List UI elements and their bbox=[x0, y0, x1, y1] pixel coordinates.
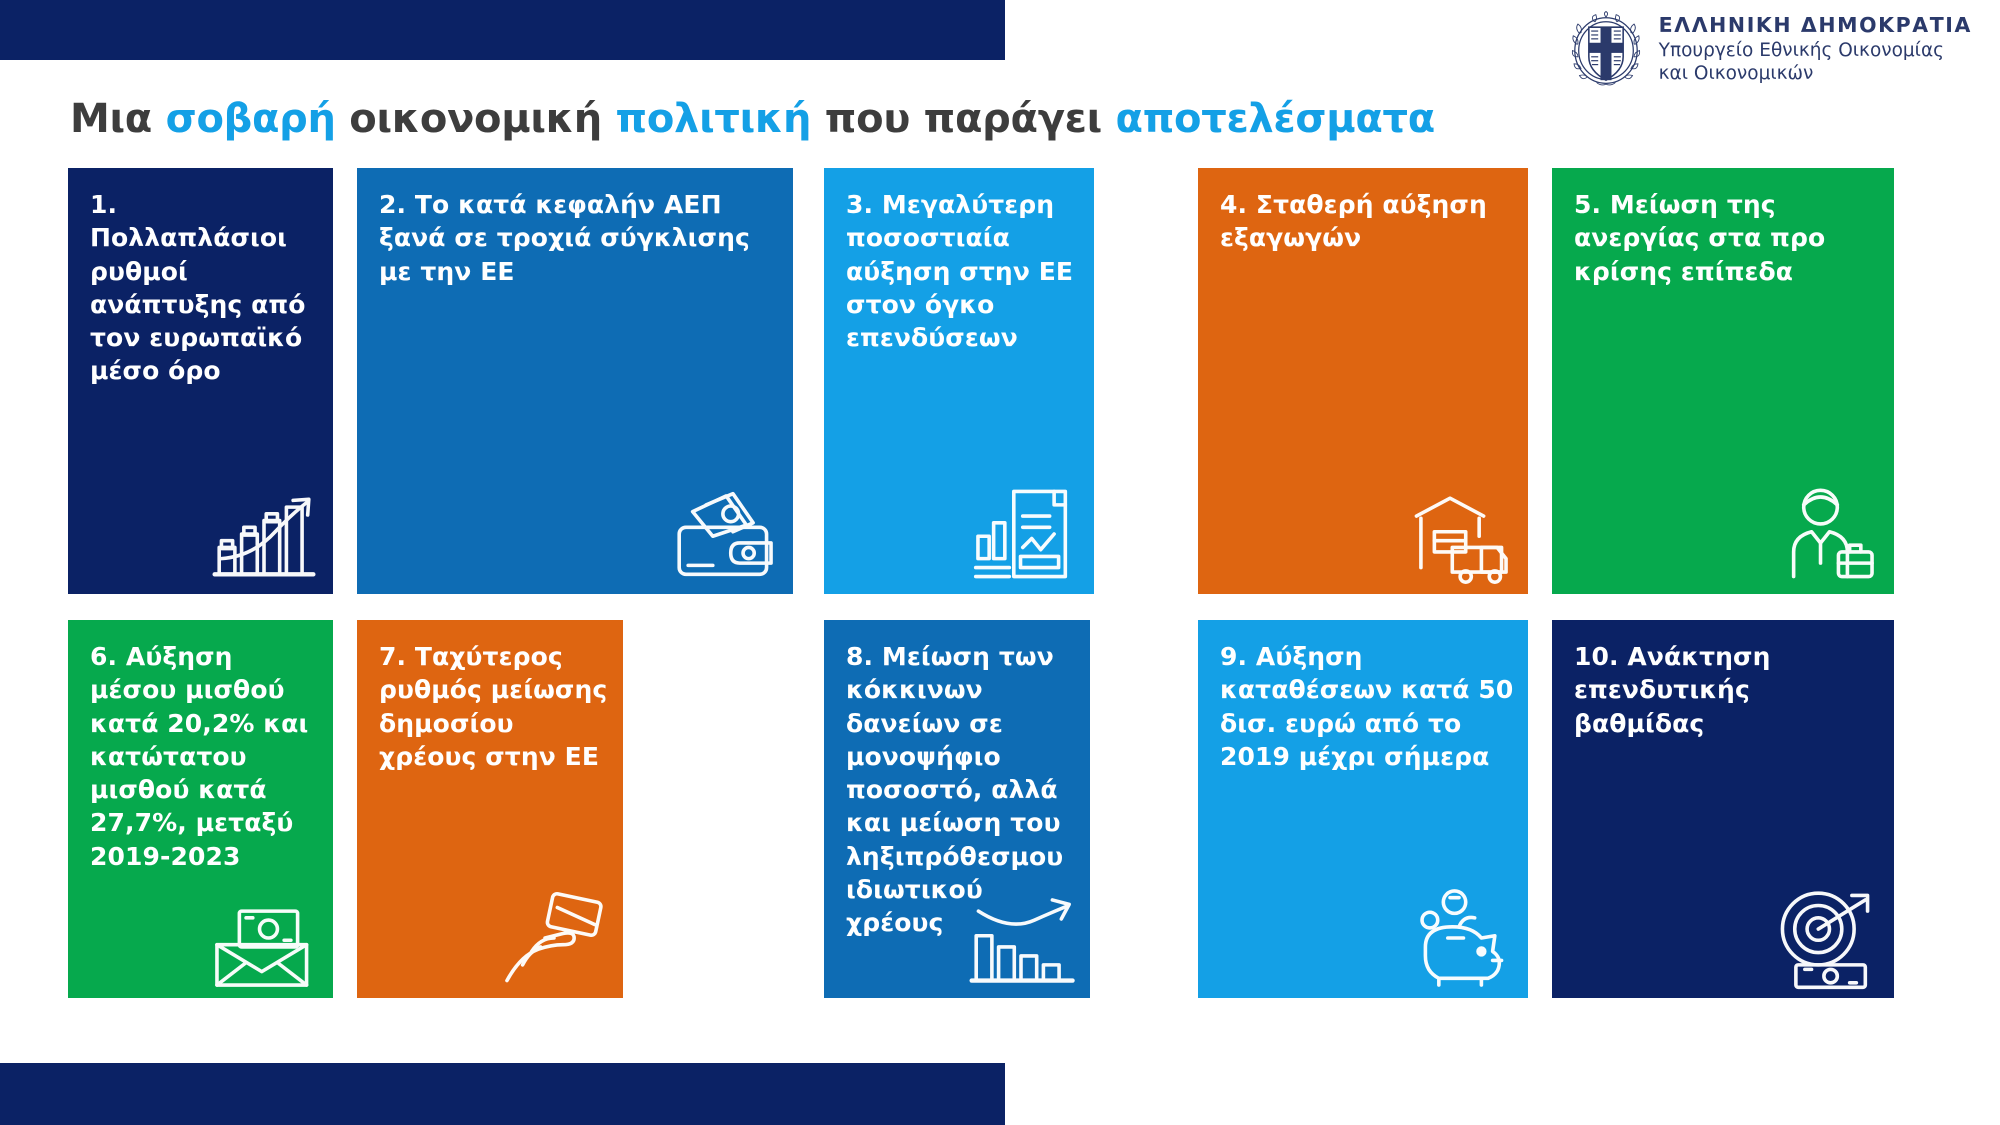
decorative-bottom-bar bbox=[0, 1063, 1005, 1125]
target-arrow-money-icon bbox=[1766, 882, 1884, 994]
logo-subtitle-line-1: Υπουργείο Εθνικής Οικονομίας bbox=[1659, 39, 1972, 62]
card-label: 10. Ανάκτηση επενδυτικής βαθμίδας bbox=[1574, 640, 1880, 740]
achievement-card-9[interactable]: 9. Αύξηση καταθέσεων κατά 50 δισ. ευρώ α… bbox=[1198, 620, 1528, 998]
achievement-card-2[interactable]: 2. Το κατά κεφαλήν ΑΕΠ ξανά σε τροχιά σύ… bbox=[357, 168, 793, 594]
card-label: 3. Μεγαλύτερη ποσοστιαία αύξηση στην ΕΕ … bbox=[846, 188, 1080, 354]
card-label: 9. Αύξηση καταθέσεων κατά 50 δισ. ευρώ α… bbox=[1220, 640, 1514, 773]
title-segment-1: σοβαρή bbox=[166, 96, 336, 142]
logo-subtitle-line-2: και Οικονομικών bbox=[1659, 62, 1972, 85]
worker-briefcase-icon bbox=[1766, 478, 1884, 590]
achievement-card-7[interactable]: 7. Ταχύτερος ρυθμός μείωσης δημοσίου χρέ… bbox=[357, 620, 623, 998]
hand-card-icon bbox=[495, 882, 613, 994]
title-segment-3: πολιτική bbox=[616, 96, 812, 142]
ministry-logo: ΕΛΛΗΝΙΚΗ ΔΗΜΟΚΡΑΤΙΑ Υπουργείο Εθνικής Οι… bbox=[1567, 10, 1972, 88]
achievement-card-6[interactable]: 6. Αύξηση μέσου μισθού κατά 20,2% και κα… bbox=[68, 620, 333, 998]
achievement-card-3[interactable]: 3. Μεγαλύτερη ποσοστιαία αύξηση στην ΕΕ … bbox=[824, 168, 1094, 594]
card-label: 6. Αύξηση μέσου μισθού κατά 20,2% και κα… bbox=[90, 640, 319, 873]
card-label: 5. Μείωση της ανεργίας στα προ κρίσης επ… bbox=[1574, 188, 1880, 288]
slide-canvas: Μια σοβαρή οικονομική πολιτική που παράγ… bbox=[0, 0, 2000, 1125]
envelope-money-icon bbox=[205, 882, 323, 994]
wallet-cash-icon bbox=[665, 478, 783, 590]
title-segment-2: οικονομική bbox=[336, 96, 616, 142]
title-segment-4: που παράγει bbox=[811, 96, 1115, 142]
piggy-bank-icon bbox=[1400, 882, 1518, 994]
logo-title-line: ΕΛΛΗΝΙΚΗ ΔΗΜΟΚΡΑΤΙΑ bbox=[1659, 13, 1972, 39]
card-label: 2. Το κατά κεφαλήν ΑΕΠ ξανά σε τροχιά σύ… bbox=[379, 188, 779, 288]
achievement-card-1[interactable]: 1. Πολλαπλάσιοι ρυθμοί ανάπτυξης από τον… bbox=[68, 168, 333, 594]
growth-chart-icon bbox=[205, 478, 323, 590]
achievements-grid: 1. Πολλαπλάσιοι ρυθμοί ανάπτυξης από τον… bbox=[0, 0, 2000, 1125]
greek-coat-of-arms-icon bbox=[1567, 10, 1645, 88]
documents-chart-icon bbox=[966, 478, 1084, 590]
card-label: 4. Σταθερή αύξηση εξαγωγών bbox=[1220, 188, 1514, 255]
achievement-card-4[interactable]: 4. Σταθερή αύξηση εξαγωγών bbox=[1198, 168, 1528, 594]
declining-bars-icon bbox=[962, 882, 1080, 994]
page-title: Μια σοβαρή οικονομική πολιτική που παράγ… bbox=[70, 96, 1435, 142]
title-segment-5: αποτελέσματα bbox=[1116, 96, 1435, 142]
decorative-top-bar bbox=[0, 0, 1005, 60]
achievement-card-8[interactable]: 8. Μείωση των κόκκινων δανείων σε μονοψή… bbox=[824, 620, 1090, 998]
warehouse-truck-icon bbox=[1400, 478, 1518, 590]
achievement-card-10[interactable]: 10. Ανάκτηση επενδυτικής βαθμίδας bbox=[1552, 620, 1894, 998]
card-label: 7. Ταχύτερος ρυθμός μείωσης δημοσίου χρέ… bbox=[379, 640, 609, 773]
card-label: 1. Πολλαπλάσιοι ρυθμοί ανάπτυξης από τον… bbox=[90, 188, 319, 388]
achievement-card-5[interactable]: 5. Μείωση της ανεργίας στα προ κρίσης επ… bbox=[1552, 168, 1894, 594]
title-segment-0: Μια bbox=[70, 96, 166, 142]
